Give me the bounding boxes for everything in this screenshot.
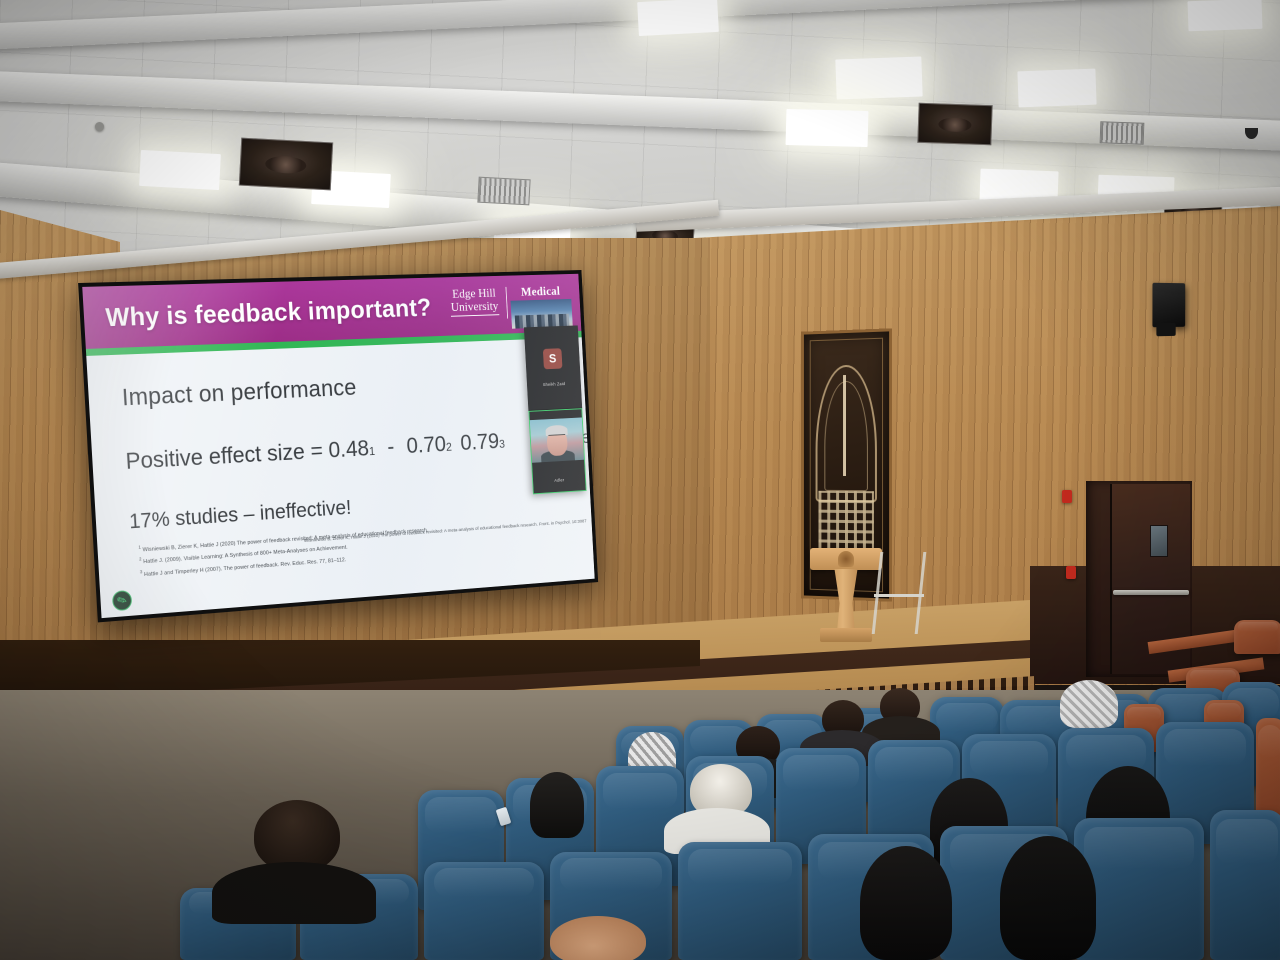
folding-stand bbox=[872, 552, 927, 634]
effect-size-value-2: 0.70 bbox=[406, 431, 447, 459]
participant-name: Sheikh Zaid bbox=[543, 381, 565, 387]
ceiling-light bbox=[1017, 69, 1096, 108]
air-vent-icon bbox=[1100, 121, 1145, 145]
seat[interactable] bbox=[1210, 810, 1280, 960]
effect-size-prefix: Positive effect size = 0.48 bbox=[125, 435, 370, 475]
brand-line-2: University bbox=[450, 299, 499, 313]
brand-underline bbox=[451, 314, 499, 317]
panel-calligraphy-stem bbox=[843, 375, 846, 475]
wall-speaker-icon bbox=[1152, 283, 1185, 328]
reference-marker: 2 bbox=[139, 557, 142, 562]
participant-video bbox=[530, 418, 584, 463]
medical-school-logo: Medical bbox=[510, 283, 573, 328]
ceiling-light bbox=[835, 57, 922, 100]
smoke-detector-icon bbox=[95, 122, 104, 131]
fire-alarm-icon bbox=[1066, 566, 1076, 579]
ceiling-speaker-icon bbox=[239, 138, 333, 191]
projection-screen[interactable]: Why is feedback important? Edge Hill Uni… bbox=[78, 270, 598, 622]
edge-hill-university-logo: Edge Hill University bbox=[449, 286, 499, 316]
fire-alarm-icon bbox=[1062, 490, 1072, 503]
leaf-logo-icon: ✎ bbox=[112, 590, 133, 611]
door-push-bar[interactable] bbox=[1113, 590, 1189, 595]
audience-person-head bbox=[1000, 836, 1096, 960]
brand-divider bbox=[505, 287, 508, 319]
audience-person-head bbox=[860, 846, 952, 960]
participant-glasses-icon bbox=[548, 434, 565, 440]
audience-person-head bbox=[550, 916, 646, 960]
video-participant-tile[interactable]: S Sheikh Zaid bbox=[524, 325, 582, 410]
seat[interactable] bbox=[678, 842, 802, 960]
air-vent-icon bbox=[477, 177, 530, 206]
participant-avatar: S bbox=[543, 348, 563, 369]
lectern-base bbox=[820, 628, 872, 642]
slide-effect-size-line: Positive effect size = 0.481 - 0.702 0.7… bbox=[125, 425, 569, 475]
slide-title: Why is feedback important? bbox=[105, 292, 432, 332]
ceiling-speaker-icon bbox=[917, 103, 992, 146]
lectern-column bbox=[830, 569, 862, 631]
slide-body: Impact on performance Positive effect si… bbox=[86, 337, 594, 618]
lecture-theatre-photo: Why is feedback important? Edge Hill Uni… bbox=[0, 0, 1280, 960]
video-participant-tile-active[interactable]: Adler bbox=[528, 408, 586, 495]
lectern-crest bbox=[838, 551, 854, 567]
ref-marker-3: 3 bbox=[499, 437, 505, 450]
ceiling-light bbox=[139, 150, 221, 190]
ceiling-light bbox=[1187, 0, 1262, 31]
seat[interactable] bbox=[1234, 620, 1280, 654]
audience-person-head bbox=[530, 772, 584, 838]
reference-marker: 1 bbox=[138, 544, 141, 549]
slide-heading-impact: Impact on performance bbox=[121, 366, 566, 413]
audience-person-shoulders bbox=[212, 862, 376, 924]
medical-label: Medical bbox=[510, 283, 572, 300]
presentation-slide: Why is feedback important? Edge Hill Uni… bbox=[82, 274, 594, 618]
ceiling-light bbox=[637, 0, 719, 36]
audience-person-head bbox=[1060, 680, 1118, 728]
effect-size-dash: - bbox=[374, 433, 407, 460]
ceiling-light bbox=[786, 109, 869, 147]
reference-marker: 3 bbox=[140, 569, 143, 574]
medical-photo bbox=[511, 299, 573, 329]
seat[interactable] bbox=[424, 862, 544, 960]
effect-size-value-3: 0.79 bbox=[451, 428, 500, 456]
video-call-panel[interactable]: S Sheikh Zaid Adler bbox=[524, 325, 587, 494]
stand-crossbar bbox=[874, 594, 924, 597]
door-window bbox=[1150, 525, 1168, 557]
participant-name: Adler bbox=[554, 478, 564, 483]
